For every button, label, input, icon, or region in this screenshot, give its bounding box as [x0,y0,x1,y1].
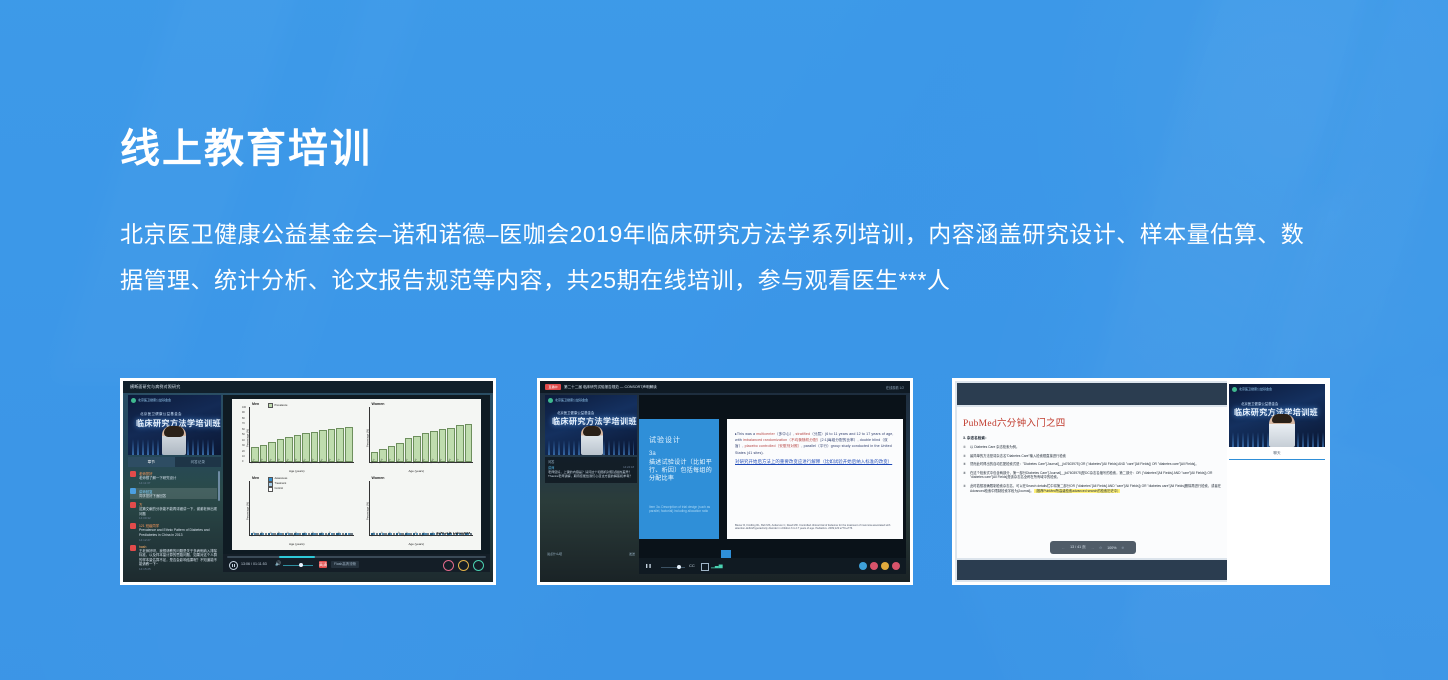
chat-message: 老师您好 老师想了解一下研究设计 14:11:37 [130,471,217,485]
chat-text: 这篇文献的分析能不能再详细讲一下，谢谢老师出现问题 [139,507,217,516]
signal-icon[interactable]: ▁▃▅ [711,563,723,569]
qa-input-hint[interactable]: 说点什么吧 [547,552,562,556]
chart-men-awareness: Men Percentage (%) Awareness Treatment C… [238,476,356,548]
speaker-video[interactable]: 北京医卫健康公益基金会 北京医卫健康公益基金会 临床研究方法学培训班 [545,395,637,455]
fullscreen-icon[interactable] [892,562,900,570]
y-tick-label: 80 [242,418,245,420]
tab-underline [1229,459,1325,460]
viewer-bottom-band [957,560,1229,580]
player-right-icons[interactable] [859,562,900,570]
org-logo-text: 北京医卫健康公益基金会 [138,398,171,402]
org-logo-text: 北京医卫健康公益基金会 [1239,387,1272,391]
y-tick-label: 20 [242,451,245,453]
qa-body: 老师您好，上课的内容是？请问这个和随机对照试验的差异？Thanks老师讲解，期待… [548,470,634,478]
video-subtitle: 北京医卫健康公益基金会 [557,410,594,415]
live-badge: 直播中 [545,384,561,390]
chart-xlabel: Age (years) [358,469,476,473]
list-item-number: ① [963,445,968,450]
chart-men-prevalence: Men Percentage (%) Prevalence 20-2425-29… [238,402,356,474]
slide-right-column: ▸This was a multicenter（多中心）, stratified… [727,419,903,539]
speaker-hair [583,426,601,436]
chat-scrollbar[interactable] [218,471,220,501]
org-logo-icon [131,398,136,403]
chart-title: Women [372,402,385,406]
y-axis [369,481,370,537]
slide-item-text: 描述试验设计（比如平行、析因）包括每组的分配比率 [649,459,714,483]
bar-series-prevalence [251,408,353,462]
volume-track[interactable] [661,567,685,568]
webinar-left-panel: 北京医卫健康公益基金会 北京医卫健康公益基金会 临床研究方法学培训班 问答 讲师… [545,395,637,574]
chat-text: 王老师好呀，我想请教的问题是关于多病例纳入排除标准，以及样本量计算的思路问题，如… [139,549,217,567]
chart-xlabel: Age (years) [358,542,476,546]
list-item-text: 此时若想准确限制检索杂志名，可以在Search details栏中将第二部分OR… [970,484,1223,493]
webinar-left-panel: 北京医卫健康公益基金会 北京医卫健康公益基金会 临床研究方法学培训班 章节 问答… [128,395,221,572]
video-subtitle: 北京医卫健康公益基金会 [140,412,182,417]
webinar-topbar: 横断面研究与病例对照研究 [123,381,493,393]
bar-series-grouped [251,482,353,536]
y-tick-label: 70 [242,423,245,425]
slide-title: PubMed六分钟入门之四 [963,415,1223,429]
org-logo-icon [548,398,553,403]
presentation-slide: 试验设计 3a 描述试验设计（比如平行、析因）包括每组的分配比率 Item 3a… [639,419,906,539]
legend-label: Prevalence [275,404,288,407]
quality-badge[interactable]: 高清 [319,561,327,568]
speaker-video[interactable]: 北京医卫健康公益基金会 北京医卫健康公益基金会 临床研究方法学培训班 [1229,384,1325,447]
y-axis [249,407,250,463]
list-item-number: ③ [963,462,968,467]
bar-series-prevalence [371,408,473,462]
chat-time: 14:11:37 [139,481,217,485]
list-item: ② 最简单的方法是将杂志名"Diabetes Care"输入检索框直接进行检索 [963,454,1223,459]
org-logo-text: 北京医卫健康公益基金会 [555,398,588,402]
speaker-hair [1272,414,1292,423]
list-item-text: 然而此时得出的自动匹配检索式是："Diabetes Care"[Journal]… [970,462,1223,467]
thumbnail-trial-design-slide[interactable]: 直播中 第二十二届 临床研究试验报告规范 — CONSORT声明解读 在线观看 … [537,378,913,585]
zoom-out-icon[interactable]: ⊖ [1099,546,1102,550]
qa-time: 14:24:18 [623,465,634,469]
tab-chapters[interactable]: 章节 [128,457,175,467]
webinar-topbar-title: 第二十二届 临床研究试验报告规范 — CONSORT声明解读 [564,385,657,390]
viewer-top-band [957,383,1229,405]
chat-message: 讲师回复 同学您好下面回答 [130,488,217,500]
slide-highlight-link[interactable]: 对研究开始后方法上的重要改变应进行解释（比如试验开始后纳入标准的改变） [735,459,895,466]
slide-paragraph: ▸This was a multicenter（多中心）, stratified… [735,431,895,465]
like-icon[interactable] [870,562,878,570]
chat-message: hash 王老师好呀，我想请教的问题是关于多病例纳入排除标准，以及样本量计算的思… [130,545,217,571]
share-icon[interactable] [859,562,867,570]
list-item: ⑤ 此时若想准确限制检索杂志名，可以在Search details栏中将第二部分… [963,484,1223,493]
volume-knob[interactable] [299,563,303,567]
chart-xlabel: Age (years) [238,542,356,546]
webinar-stage: 试验设计 3a 描述试验设计（比如平行、析因）包括每组的分配比率 Item 3a… [639,395,906,574]
tab-qa-log[interactable]: 问答记录 [175,457,222,467]
y-tick-label: 10 [242,456,245,458]
qa-footer: 说点什么吧 发送 [545,552,637,560]
chat-time: 14:12:27 [139,538,217,542]
fullscreen-icon[interactable] [443,560,454,571]
zoom-in-icon[interactable]: ⊕ [1121,546,1124,550]
volume-knob[interactable] [677,565,681,569]
viewer-side-panel: 北京医卫健康公益基金会 北京医卫健康公益基金会 临床研究方法学培训班 聊天 [1227,381,1327,582]
list-item-text: 以 Diabetes Care 杂志检索为例。 [970,445,1223,450]
list-item-number: ② [963,454,968,459]
slide-english-note: Item 3a. Description of trial design (su… [649,505,713,514]
chart-grid: Men Percentage (%) Prevalence 20-2425-29… [238,402,475,547]
y-tick-label: 50 [242,434,245,436]
viewer-count: 在线观看 1/2 [886,385,904,390]
y-axis [249,481,250,537]
webinar-stage: Men Percentage (%) Prevalence 20-2425-29… [223,395,490,572]
page-description: 北京医卫健康公益基金会–诺和诺德–医咖会2019年临床研究方法学系列培训，内容涵… [120,211,1310,303]
chart-source-citation: Su M, et al. Lancet 2018. [436,531,471,535]
side-panel-tab-label: 聊天 [1273,451,1280,455]
settings-icon[interactable] [473,560,484,571]
page-title: 线上教育培训 [120,125,372,173]
webinar-topbar: 直播中 第二十二届 临床研究试验报告规范 — CONSORT声明解读 在线观看 … [540,381,910,393]
chart-title: Women [372,476,385,480]
player-right-icons[interactable] [443,560,484,571]
list-item-number: ④ [963,471,968,480]
video-player-controls[interactable]: 13:06 / 01:11:53 🔊 高清 Flash高清流畅 [223,554,490,572]
chat-message: 方 这篇文献的分析能不能再详细讲一下，谢谢老师出现问题 14:09:32 [130,502,217,520]
document-viewer: PubMed六分钟入门之四 3. 杂志名检索： ① 以 Diabetes Car… [955,381,1231,582]
screen-icon[interactable] [701,563,709,571]
org-logo-icon [1232,387,1237,392]
chart-women-prevalence: Women Percentage (%) 20-2425-2930-3435-3… [358,402,476,474]
playback-time: 13:06 / 01:11:53 [241,562,267,566]
chat-message: 121 班级同学 Prevalence and Ethnic Pattern o… [130,523,217,541]
list-item-text: 最简单的方法是将杂志名"Diabetes Care"输入检索框直接进行检索 [970,454,1223,459]
slide-left-column: 试验设计 3a 描述试验设计（比如平行、析因）包括每组的分配比率 Item 3a… [639,419,719,539]
chat-avatar [130,545,136,551]
legend-label: Awareness [275,477,288,480]
chat-text: Prevalence and Ethnic Pattern of Diabete… [139,528,217,537]
list-item: ③ 然而此时得出的自动匹配检索式是："Diabetes Care"[Journa… [963,462,1223,467]
speaker-hair [164,426,184,437]
y-tick-label: 60 [242,429,245,431]
play-pause-icon[interactable]: ❚❚ [645,563,652,568]
y-tick-label: 90 [242,412,245,414]
chat-avatar [130,523,136,529]
list-item-number: ⑤ [963,484,968,493]
y-tick-label: 100 [242,407,246,409]
list-item-text: 在这个检索式中包含两部分，第一部分Diabetes Care"[Journal]… [970,471,1223,480]
qa-send-label[interactable]: 发送 [629,552,635,556]
qa-header: 问答 [548,459,554,464]
progress-bar[interactable] [227,556,486,558]
side-panel-tab[interactable]: 聊天 [1229,449,1325,460]
slide-section-title: 试验设计 [649,435,681,445]
chart-xlabel: Age (years) [238,469,356,473]
video-subtitle: 北京医卫健康公益基金会 [1241,401,1278,406]
cc-icon[interactable]: CC [689,563,695,568]
slide-item-number: 3a [649,451,656,457]
y-tick-label: 30 [242,445,245,447]
slide-subtitle: 3. 杂志名检索： [963,436,1223,441]
y-tick-label: 40 [242,440,245,442]
thumbnail-pubmed-slide[interactable]: PubMed六分钟入门之四 3. 杂志名检索： ① 以 Diabetes Car… [952,378,1330,585]
page-navigation-bar[interactable]: ← 13 / 41 页 → ⊖ 100% ⊕ [1050,541,1136,554]
info-icon[interactable] [458,560,469,571]
list-item: ① 以 Diabetes Care 杂志检索为例。 [963,445,1223,450]
qa-panel[interactable]: 问答 讲师 14:24:18 老师您好，上课的内容是？请问这个和随机对照试验的差… [545,457,637,483]
speaker-video[interactable]: 北京医卫健康公益基金会 北京医卫健康公益基金会 临床研究方法学培训班 [128,395,221,455]
webinar-tab-bar[interactable]: 章节 问答记录 [128,457,221,467]
chat-avatar [130,502,136,508]
volume-icon[interactable]: 🔊 [275,562,281,567]
chart-women-awareness: Women Percentage (%) 20-2425-2930-3435-3… [358,476,476,548]
next-page-icon[interactable]: → [1091,546,1095,550]
webinar-topbar-title: 横断面研究与病例对照研究 [130,384,180,390]
y-axis [369,407,370,463]
slide-citation: Biener R, Findling RL, Beh MS, Anderson … [735,524,895,531]
pubmed-slide: PubMed六分钟入门之四 3. 杂志名检索： ① 以 Diabetes Car… [957,407,1229,558]
thumbnail-gallery: 横断面研究与病例对照研究 北京医卫健康公益基金会 北京医卫健康公益基金会 临床研… [120,378,1330,588]
chat-time: 14:15:25 [139,567,217,571]
chart-title: Men [252,402,259,406]
slide-play-button[interactable] [721,550,731,558]
chat-avatar [130,471,136,477]
volume-track[interactable] [283,565,313,566]
list-item: ④ 在这个检索式中包含两部分，第一部分Diabetes Care"[Journa… [963,471,1223,480]
video-player-controls[interactable]: ❚❚ CC ▁▃▅ [639,558,906,574]
page-indicator: 13 / 41 页 [1070,545,1086,550]
chat-avatar [130,488,136,494]
chart-title: Men [252,476,259,480]
chat-text: 同学您好下面回答 [139,494,215,499]
slide-charts: Men Percentage (%) Prevalence 20-2425-29… [232,399,481,550]
bar-series-grouped [371,482,473,536]
chat-list[interactable]: 老师您好 老师想了解一下研究设计 14:11:37 讲师回复 同学您好下面回答 … [128,468,221,572]
prev-page-icon[interactable]: ← [1061,546,1065,550]
pause-button[interactable] [229,561,238,570]
info-icon[interactable] [881,562,889,570]
quality-selector[interactable]: Flash高清流畅 [331,561,359,568]
thumbnail-webinar-bar-charts[interactable]: 横断面研究与病例对照研究 北京医卫健康公益基金会 北京医卫健康公益基金会 临床研… [120,378,496,585]
y-tick-label: 0 [242,461,243,463]
slide-highlight-text: （推荐PubMed所高级检索advanced search的检索历史中） [1034,489,1121,493]
chat-time: 14:09:32 [139,516,217,520]
zoom-level: 100% [1107,546,1116,550]
